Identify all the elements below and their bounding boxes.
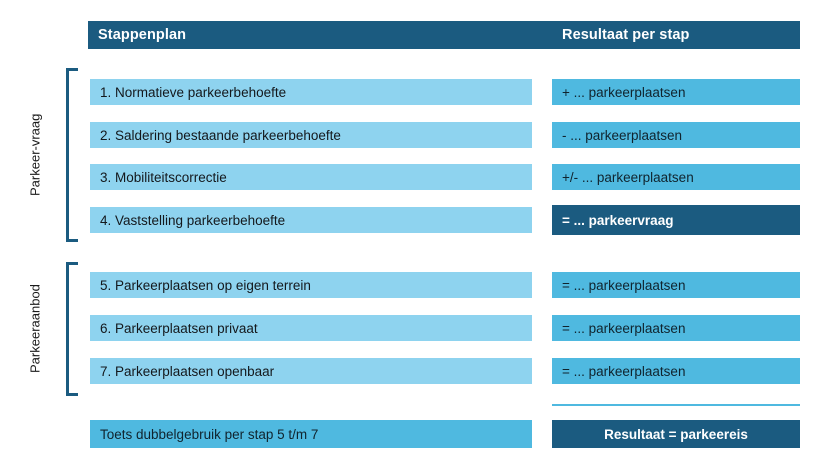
step-row-5[interactable]: 5. Parkeerplaatsen op eigen terrein <box>90 272 532 298</box>
result-row-1[interactable]: + ... parkeerplaatsen <box>552 79 800 105</box>
bracket-parkeeraanbod <box>66 262 78 396</box>
side-label-parkeeraanbod-text: Parkeeraanbod <box>28 285 43 374</box>
step-label-6: 6. Parkeerplaatsen privaat <box>100 321 258 336</box>
result-label-6: = ... parkeerplaatsen <box>562 321 685 336</box>
header-stappenplan: Stappenplan <box>88 21 552 49</box>
header-stappenplan-label: Stappenplan <box>98 27 186 43</box>
step-label-4: 4. Vaststelling parkeerbehoefte <box>100 213 285 228</box>
step-label-7: 7. Parkeerplaatsen openbaar <box>100 364 274 379</box>
side-label-parkeervraag-text: Parkeer-vraag <box>28 114 43 196</box>
result-label-5: = ... parkeerplaatsen <box>562 278 685 293</box>
footer-left-label: Toets dubbelgebruik per stap 5 t/m 7 <box>100 427 318 442</box>
result-row-6[interactable]: = ... parkeerplaatsen <box>552 315 800 341</box>
step-label-5: 5. Parkeerplaatsen op eigen terrein <box>100 278 311 293</box>
step-row-7[interactable]: 7. Parkeerplaatsen openbaar <box>90 358 532 384</box>
footer-toets-dubbelgebruik[interactable]: Toets dubbelgebruik per stap 5 t/m 7 <box>90 420 532 448</box>
step-row-3[interactable]: 3. Mobiliteitscorrectie <box>90 164 532 190</box>
result-row-5[interactable]: = ... parkeerplaatsen <box>552 272 800 298</box>
result-label-4: = ... parkeervraag <box>562 213 673 228</box>
side-label-parkeeraanbod: Parkeeraanbod <box>26 262 44 396</box>
result-divider <box>552 404 800 406</box>
step-label-3: 3. Mobiliteitscorrectie <box>100 170 227 185</box>
step-row-4[interactable]: 4. Vaststelling parkeerbehoefte <box>90 207 532 233</box>
step-row-1[interactable]: 1. Normatieve parkeerbehoefte <box>90 79 532 105</box>
step-row-2[interactable]: 2. Saldering bestaande parkeerbehoefte <box>90 122 532 148</box>
step-label-2: 2. Saldering bestaande parkeerbehoefte <box>100 128 341 143</box>
result-row-3[interactable]: +/- ... parkeerplaatsen <box>552 164 800 190</box>
footer-right-label: Resultaat = parkeereis <box>604 427 748 442</box>
parking-steps-diagram: Stappenplan Resultaat per stap Parkeer-v… <box>0 0 824 452</box>
result-row-7[interactable]: = ... parkeerplaatsen <box>552 358 800 384</box>
bracket-parkeervraag <box>66 68 78 242</box>
header-resultaat-label: Resultaat per stap <box>562 27 690 43</box>
result-label-7: = ... parkeerplaatsen <box>562 364 685 379</box>
result-label-1: + ... parkeerplaatsen <box>562 85 685 100</box>
result-row-4[interactable]: = ... parkeervraag <box>552 205 800 235</box>
header-resultaat: Resultaat per stap <box>552 21 800 49</box>
step-label-1: 1. Normatieve parkeerbehoefte <box>100 85 286 100</box>
result-label-3: +/- ... parkeerplaatsen <box>562 170 694 185</box>
side-label-parkeervraag: Parkeer-vraag <box>26 68 44 242</box>
footer-resultaat-parkeereis[interactable]: Resultaat = parkeereis <box>552 420 800 448</box>
result-label-2: - ... parkeerplaatsen <box>562 128 682 143</box>
result-row-2[interactable]: - ... parkeerplaatsen <box>552 122 800 148</box>
step-row-6[interactable]: 6. Parkeerplaatsen privaat <box>90 315 532 341</box>
